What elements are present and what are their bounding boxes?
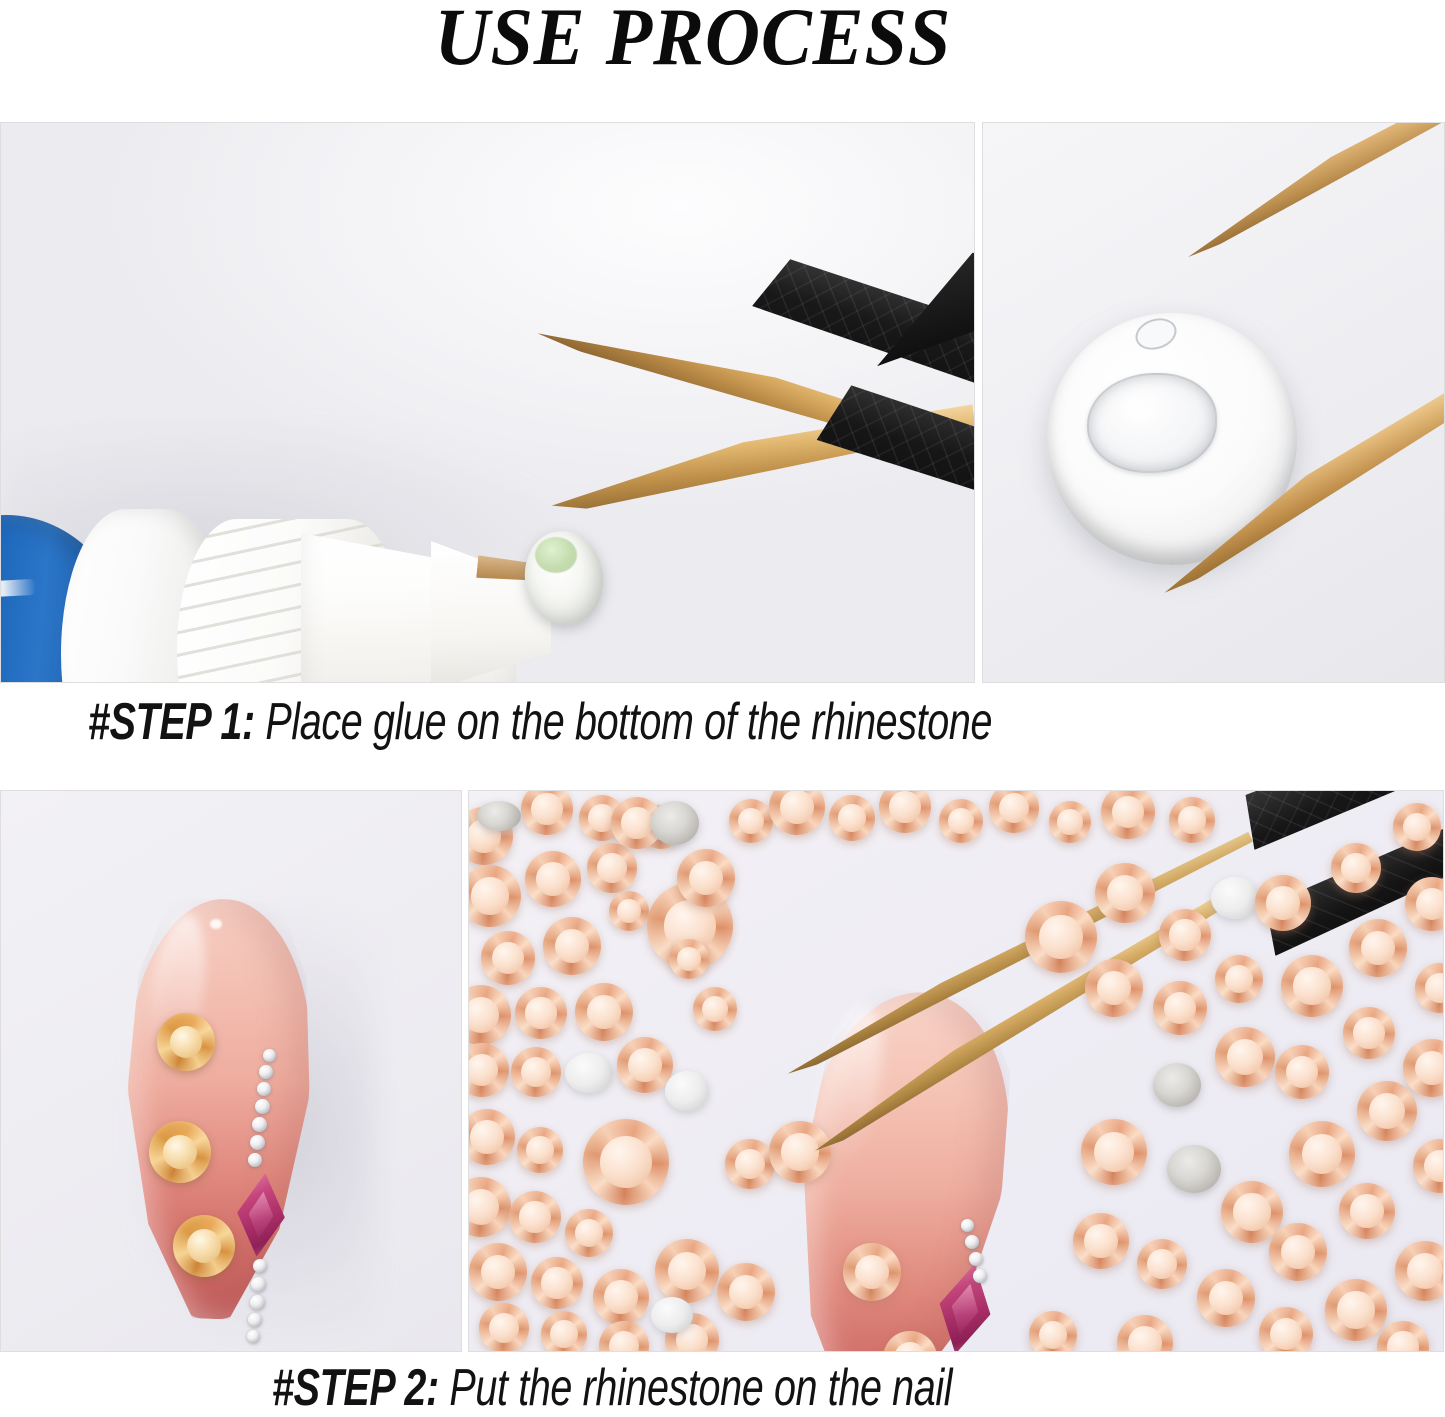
photo-glue-bottle-tweezers xyxy=(0,122,975,683)
scattered-rhinestone xyxy=(617,1037,673,1093)
step-1-label: #STEP 1: xyxy=(88,693,255,751)
page-header: USE PROCESS xyxy=(0,0,1445,118)
scattered-rhinestone xyxy=(1137,1239,1187,1289)
photo-placing-rhinestone xyxy=(468,790,1444,1352)
silver-bead xyxy=(259,1065,273,1079)
rhinestone-on-nail xyxy=(843,1243,901,1301)
scattered-rhinestone xyxy=(1349,919,1407,977)
scattered-rhinestone xyxy=(1289,1121,1355,1187)
silver-bead xyxy=(250,1135,265,1150)
scattered-rhinestone-large xyxy=(583,1119,669,1205)
rhinestone-foil-back xyxy=(1153,1063,1201,1107)
silver-bead xyxy=(247,1330,260,1343)
scattered-rhinestone xyxy=(531,1257,583,1309)
rhinestone-flat-back xyxy=(651,1297,693,1333)
scattered-rhinestone xyxy=(677,849,735,907)
nail-specular-dot xyxy=(210,919,222,929)
scattered-rhinestone xyxy=(541,1311,587,1352)
scattered-rhinestone xyxy=(565,1209,613,1257)
scattered-rhinestone xyxy=(1169,797,1215,843)
rhinestone-flat-back xyxy=(1211,877,1259,919)
silver-bead xyxy=(961,1219,974,1232)
scattered-rhinestone xyxy=(1025,901,1097,973)
scattered-rhinestone xyxy=(587,843,637,893)
step-2-label: #STEP 2: xyxy=(272,1359,439,1417)
silver-bead xyxy=(253,1259,267,1273)
scattered-rhinestone xyxy=(1325,1279,1387,1341)
photo-rhinestone-glue-drop xyxy=(982,122,1445,683)
scattered-rhinestone xyxy=(1357,1081,1417,1141)
rhinestone-flat-back xyxy=(665,1071,709,1111)
amber-rhinestone xyxy=(173,1215,235,1277)
scattered-rhinestone xyxy=(1331,843,1381,893)
scattered-rhinestone xyxy=(1215,1027,1275,1087)
scattered-rhinestone xyxy=(1269,1223,1327,1281)
scattered-rhinestone xyxy=(511,1047,561,1097)
rhinestone-foil-back xyxy=(477,801,521,831)
scattered-rhinestone xyxy=(655,1239,719,1303)
scattered-rhinestone xyxy=(693,987,737,1031)
scattered-rhinestone xyxy=(1159,909,1211,961)
step-2-caption: #STEP 2: Put the rhinestone on the nail xyxy=(0,1362,1445,1412)
step-2-caption-inner: #STEP 2: Put the rhinestone on the nail xyxy=(272,1362,952,1414)
scattered-rhinestone xyxy=(609,891,649,931)
scattered-rhinestone xyxy=(479,1303,529,1352)
scattered-rhinestone xyxy=(1255,875,1311,931)
glue-droplet xyxy=(535,537,577,573)
scattered-rhinestone xyxy=(939,799,983,843)
amber-rhinestone xyxy=(149,1121,211,1183)
scattered-rhinestone xyxy=(725,1139,775,1189)
scattered-rhinestone xyxy=(1339,1183,1395,1239)
scattered-rhinestone xyxy=(1153,981,1207,1035)
scattered-rhinestone xyxy=(1095,863,1155,923)
scattered-rhinestone xyxy=(1085,959,1143,1017)
scattered-rhinestone xyxy=(1259,1307,1313,1352)
scattered-rhinestone xyxy=(525,851,581,907)
step-1-photo-row xyxy=(0,122,1445,683)
scattered-rhinestone xyxy=(1073,1213,1129,1269)
scattered-rhinestone xyxy=(1049,801,1091,843)
scattered-rhinestone xyxy=(1215,955,1263,1003)
scattered-rhinestone xyxy=(1275,1045,1329,1099)
silver-bead xyxy=(251,1277,266,1292)
scattered-rhinestone xyxy=(469,1243,527,1301)
step-2-photo-row xyxy=(0,790,1445,1352)
silver-bead xyxy=(965,1235,979,1249)
scattered-rhinestone xyxy=(481,931,535,985)
step-1-caption-inner: #STEP 1: Place glue on the bottom of the… xyxy=(88,696,992,748)
scattered-rhinestone xyxy=(543,917,601,975)
rhinestone-flat-back xyxy=(565,1053,613,1093)
silver-bead xyxy=(248,1153,262,1167)
scattered-rhinestone xyxy=(1221,1181,1283,1243)
scattered-rhinestone xyxy=(1343,1007,1395,1059)
scattered-rhinestone xyxy=(1081,1119,1147,1185)
scattered-rhinestone xyxy=(575,983,633,1041)
rhinestone-on-nail xyxy=(769,1121,831,1183)
scattered-rhinestone xyxy=(717,1263,775,1321)
silver-bead xyxy=(263,1049,276,1062)
rhinestone-foil-back xyxy=(1167,1145,1221,1193)
scattered-rhinestone xyxy=(1029,1311,1077,1352)
scattered-rhinestone xyxy=(1281,955,1343,1017)
scattered-rhinestone xyxy=(1197,1269,1255,1327)
silver-bead xyxy=(969,1252,983,1266)
scattered-rhinestone xyxy=(1393,803,1441,851)
silver-bead xyxy=(257,1082,271,1096)
silver-bead xyxy=(252,1117,267,1132)
rhinestone-foil-back xyxy=(651,801,699,845)
scattered-rhinestone xyxy=(829,795,875,841)
silver-bead xyxy=(250,1295,265,1310)
glue-droplet xyxy=(1087,373,1217,473)
step-1-caption: #STEP 1: Place glue on the bottom of the… xyxy=(0,696,1445,758)
scattered-rhinestone xyxy=(729,799,773,843)
amber-rhinestone xyxy=(157,1013,215,1071)
step-1-text: Place glue on the bottom of the rhinesto… xyxy=(255,693,992,751)
scattered-rhinestone xyxy=(517,1127,563,1173)
scattered-rhinestone xyxy=(593,1269,649,1325)
silver-bead xyxy=(973,1269,987,1283)
scattered-rhinestone xyxy=(515,987,567,1039)
scattered-rhinestone xyxy=(509,1191,561,1243)
photo-finished-nail xyxy=(0,790,462,1352)
page-title: USE PROCESS xyxy=(434,0,951,78)
silver-bead xyxy=(248,1313,262,1327)
step-2-text: Put the rhinestone on the nail xyxy=(439,1359,952,1417)
scattered-rhinestone xyxy=(669,939,709,979)
silver-bead xyxy=(255,1099,270,1114)
